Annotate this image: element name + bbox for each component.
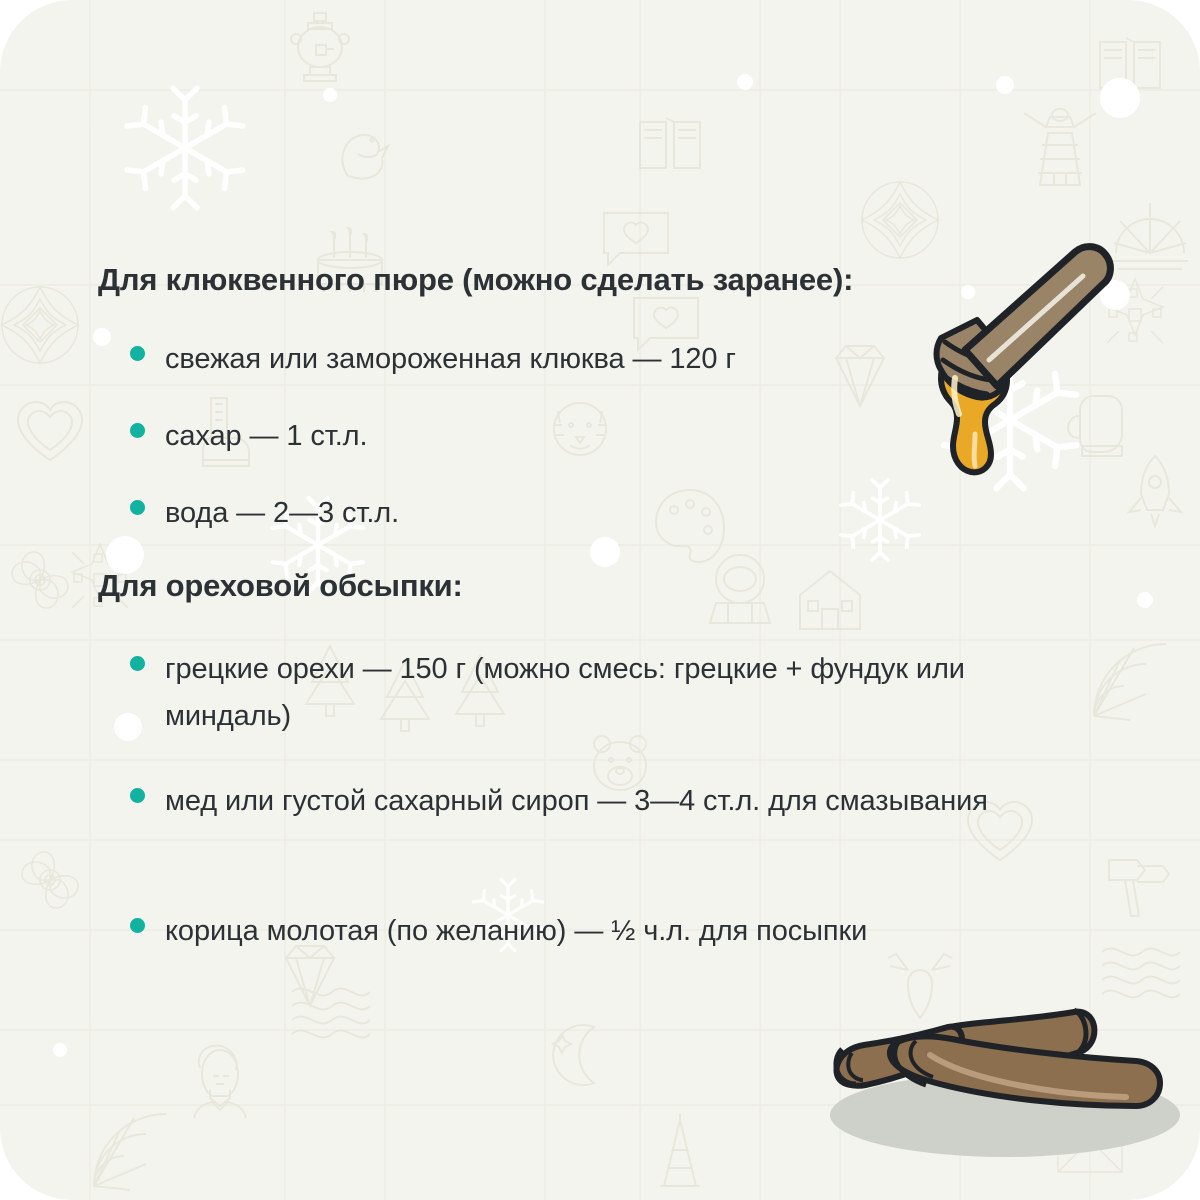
bullet-icon [130, 788, 145, 803]
bullet-icon [130, 423, 145, 438]
section-heading-nut-topping: Для ореховой обсыпки: [98, 568, 463, 604]
ingredient-text: корица молотая (по желанию) — ½ ч.л. для… [165, 908, 867, 955]
section-heading-cranberry-puree: Для клюквенного пюре (можно сделать зара… [98, 262, 853, 298]
bullet-icon [130, 656, 145, 671]
ingredient-text: вода — 2—3 ст.л. [165, 490, 399, 537]
bullet-icon [130, 500, 145, 515]
ingredient-text: свежая или замороженная клюква — 120 г [165, 336, 736, 383]
bullet-icon [130, 346, 145, 361]
recipe-card: Для клюквенного пюре (можно сделать зара… [0, 0, 1200, 1200]
honey-dipper-icon [905, 238, 1165, 598]
ingredient-text: грецкие орехи — 150 г (можно смесь: грец… [165, 646, 1040, 740]
bullet-icon [130, 918, 145, 933]
cinnamon-sticks-icon [800, 975, 1200, 1200]
ingredient-text: мед или густой сахарный сироп — 3—4 ст.л… [165, 778, 988, 825]
ingredient-text: сахар — 1 ст.л. [165, 413, 367, 460]
